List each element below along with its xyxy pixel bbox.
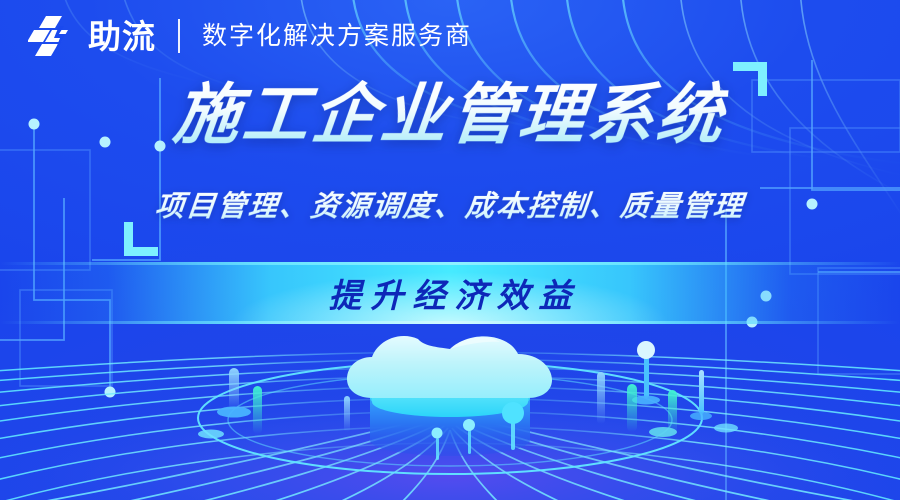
page-title: 施工企业管理系统 bbox=[170, 80, 729, 149]
brand-divider bbox=[178, 19, 180, 53]
brand-tagline: 数字化解决方案服务商 bbox=[202, 24, 472, 49]
brand-header: 助流 数字化解决方案服务商 bbox=[28, 14, 472, 58]
highlight-band-text: 提升经济效益 bbox=[0, 262, 900, 324]
brand-name: 助流 bbox=[88, 20, 156, 53]
hero-title-block: 施工企业管理系统 bbox=[0, 80, 900, 149]
lightning-bolt-logo-icon bbox=[28, 14, 74, 58]
corner-bracket-bottom-left bbox=[124, 222, 158, 256]
hero-subtitle: 项目管理、资源调度、成本控制、质量管理 bbox=[0, 183, 900, 225]
promotional-banner: 助流 数字化解决方案服务商 施工企业管理系统 项目管理、资源调度、成本控制、质量… bbox=[0, 0, 900, 500]
